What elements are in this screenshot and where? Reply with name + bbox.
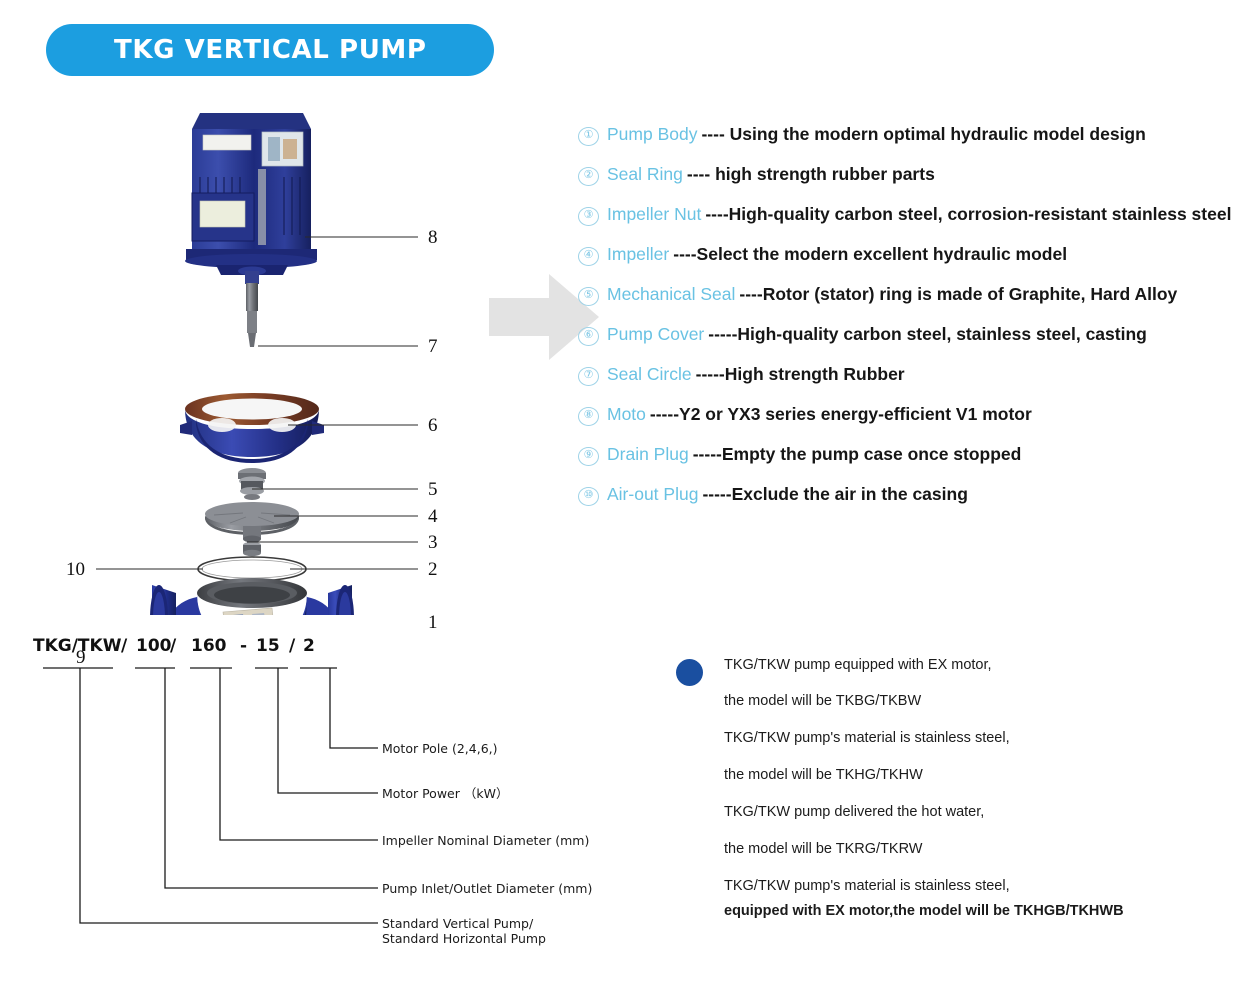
part-description: -----Exclude the air in the casing: [702, 484, 967, 505]
part-number-badge: ①: [578, 127, 599, 146]
part-name: Pump Body: [607, 124, 697, 145]
code-desc-standard-horizontal-pump: Standard Horizontal Pump: [382, 931, 546, 946]
part-row: ⑦ Seal Circle -----High strength Rubber: [578, 364, 1228, 404]
part-name: Moto: [607, 404, 646, 425]
part-row: ④ Impeller ----Select the modern excelle…: [578, 244, 1228, 284]
part-seal-ring: [198, 557, 306, 581]
part-name: Seal Circle: [607, 364, 692, 385]
note-line-emphasis: equipped with EX motor,the model will be…: [724, 903, 1124, 919]
part-row: ⑧ Moto -----Y2 or YX3 series energy-effi…: [578, 404, 1228, 444]
callout-6: 6: [428, 415, 438, 437]
part-number-badge: ②: [578, 167, 599, 186]
part-name: Impeller: [607, 244, 669, 265]
part-description: ----High-quality carbon steel, corrosion…: [705, 204, 1231, 225]
callout-3: 3: [428, 532, 438, 554]
part-row: ② Seal Ring ---- high strength rubber pa…: [578, 164, 1228, 204]
part-name: Pump Cover: [607, 324, 704, 345]
part-mechanical-seal: [238, 468, 266, 500]
part-pump-body: [150, 578, 354, 615]
callout-2: 2: [428, 559, 438, 581]
part-description: ---- Using the modern optimal hydraulic …: [701, 124, 1145, 145]
part-number-badge: ⑤: [578, 287, 599, 306]
part-description: ---- high strength rubber parts: [687, 164, 935, 185]
part-number-badge: ⑧: [578, 407, 599, 426]
part-description: -----High strength Rubber: [696, 364, 905, 385]
parts-list: ① Pump Body ---- Using the modern optima…: [578, 124, 1228, 524]
part-name: Air-out Plug: [607, 484, 698, 505]
page-title: TKG VERTICAL PUMP: [114, 35, 427, 65]
callout-7: 7: [428, 336, 438, 358]
part-impeller-nut: [243, 542, 261, 556]
part-number-badge: ⑥: [578, 327, 599, 346]
note-line: TKG/TKW pump's material is stainless ste…: [724, 878, 1010, 894]
exploded-pump-diagram: 8 7 6 5 4 3 2 1 10 9: [0, 85, 520, 615]
part-description: -----High-quality carbon steel, stainles…: [708, 324, 1147, 345]
part-impeller: [205, 502, 299, 543]
part-row: ⑤ Mechanical Seal ----Rotor (stator) rin…: [578, 284, 1228, 324]
part-pump-cover: [180, 393, 324, 463]
part-name: Seal Ring: [607, 164, 683, 185]
code-desc-impeller-diameter: Impeller Nominal Diameter (mm): [382, 833, 589, 848]
code-desc-motor-power: Motor Power （kW）: [382, 786, 508, 801]
part-number-badge: ⑩: [578, 487, 599, 506]
note-line: TKG/TKW pump equipped with EX motor,: [724, 657, 992, 673]
part-number-badge: ⑦: [578, 367, 599, 386]
note-line: the model will be TKRG/TKRW: [724, 841, 923, 857]
note-line: TKG/TKW pump's material is stainless ste…: [724, 730, 1010, 746]
part-motor: [185, 113, 317, 275]
bullet-icon: [676, 659, 703, 686]
part-number-badge: ⑨: [578, 447, 599, 466]
page-title-banner: TKG VERTICAL PUMP: [46, 24, 494, 76]
part-description: ----Rotor (stator) ring is made of Graph…: [739, 284, 1177, 305]
code-desc-standard-vertical-pump: Standard Vertical Pump/: [382, 916, 533, 931]
note-line: the model will be TKHG/TKHW: [724, 767, 923, 783]
part-number-badge: ④: [578, 247, 599, 266]
part-row: ① Pump Body ---- Using the modern optima…: [578, 124, 1228, 164]
callout-10: 10: [66, 559, 85, 581]
note-line: the model will be TKBG/TKBW: [724, 693, 921, 709]
code-desc-motor-pole: Motor Pole (2,4,6,): [382, 741, 498, 756]
callout-5: 5: [428, 479, 438, 501]
part-description: ----Select the modern excellent hydrauli…: [673, 244, 1067, 265]
part-row: ③ Impeller Nut ----High-quality carbon s…: [578, 204, 1228, 244]
code-desc-inlet-outlet-diameter: Pump Inlet/Outlet Diameter (mm): [382, 881, 592, 896]
part-name: Mechanical Seal: [607, 284, 735, 305]
part-row: ⑩ Air-out Plug -----Exclude the air in t…: [578, 484, 1228, 524]
model-code-breakdown: TKG/TKW / 100 / 160 - 15 / 2 Motor Pole …: [0, 628, 620, 968]
part-name: Impeller Nut: [607, 204, 701, 225]
part-number-badge: ③: [578, 207, 599, 226]
callout-8: 8: [428, 227, 438, 249]
part-description: -----Y2 or YX3 series energy-efficient V…: [650, 404, 1032, 425]
part-description: -----Empty the pump case once stopped: [693, 444, 1022, 465]
callout-4: 4: [428, 506, 438, 528]
part-row: ⑥ Pump Cover -----High-quality carbon st…: [578, 324, 1228, 364]
part-shaft: [238, 267, 266, 348]
part-row: ⑨ Drain Plug -----Empty the pump case on…: [578, 444, 1228, 484]
note-line: TKG/TKW pump delivered the hot water,: [724, 804, 984, 820]
part-name: Drain Plug: [607, 444, 689, 465]
